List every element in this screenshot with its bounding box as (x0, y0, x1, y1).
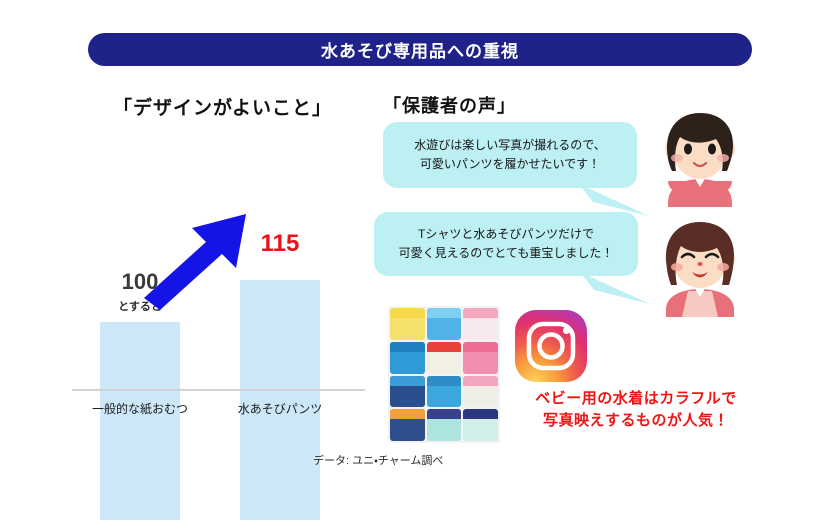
instagram-popularity-note: ベビー用の水着はカラフルで 写真映えするものが人気！ (510, 388, 762, 432)
category-label-2: 水あそびパンツ (215, 400, 345, 417)
voices-heading: 「保護者の声」 (383, 92, 516, 118)
bar-general-diaper (100, 322, 180, 520)
slide-title-text: 水あそび専用品への重視 (321, 37, 519, 62)
slide-title-banner: 水あそび専用品への重視 (88, 33, 752, 66)
mother-bob-hair-avatar (654, 107, 746, 207)
product-thumb (463, 342, 498, 374)
voice-bubble-1: 水遊びは楽しい写真が撮れるので、 可愛いパンツを履かせたいです！ (383, 122, 637, 188)
product-thumb (390, 308, 425, 340)
category-label-1: 一般的な紙おむつ (75, 400, 205, 417)
chart-baseline-axis (72, 389, 365, 391)
voice-bubble-2: Tシャツと水あそびパンツだけで 可愛く見えるのでとても重宝しました！ (374, 212, 638, 276)
voice-bubble-2-tail (580, 272, 652, 306)
product-thumb (390, 409, 425, 441)
slide-canvas: 水あそび専用品への重視 「デザインがよいこと」 100 とすると 115 一般的… (0, 0, 840, 509)
product-thumb (390, 376, 425, 408)
chart-source-note: データ: ユニ・チャーム調べ (313, 452, 443, 468)
product-thumb (427, 342, 462, 374)
product-thumb (427, 409, 462, 441)
instagram-icon[interactable] (514, 309, 588, 383)
product-thumb (390, 342, 425, 374)
product-thumb (427, 376, 462, 408)
chart-heading: 「デザインがよいこと」 (113, 93, 332, 120)
bar-chart: 100 とすると 115 一般的な紙おむつ 水あそびパンツ (60, 130, 390, 430)
product-thumb (427, 308, 462, 340)
voice-bubble-1-line-2: 可愛いパンツを履かせたいです！ (420, 155, 600, 174)
voice-bubble-2-line-1: Tシャツと水あそびパンツだけで (418, 225, 594, 244)
swim-pants-photo-grid (388, 306, 500, 443)
mother-apron-avatar (654, 217, 746, 317)
product-thumb (463, 308, 498, 340)
voice-bubble-2-line-2: 可愛く見えるのでとても重宝しました！ (399, 244, 614, 263)
pink-note-line-2: 写真映えするものが人気！ (510, 410, 762, 432)
pink-note-line-1: ベビー用の水着はカラフルで (510, 388, 762, 410)
voice-bubble-1-line-1: 水遊びは楽しい写真が撮れるので、 (414, 136, 606, 155)
growth-arrow-icon (140, 190, 280, 310)
product-thumb (463, 409, 498, 441)
product-thumb (463, 376, 498, 408)
